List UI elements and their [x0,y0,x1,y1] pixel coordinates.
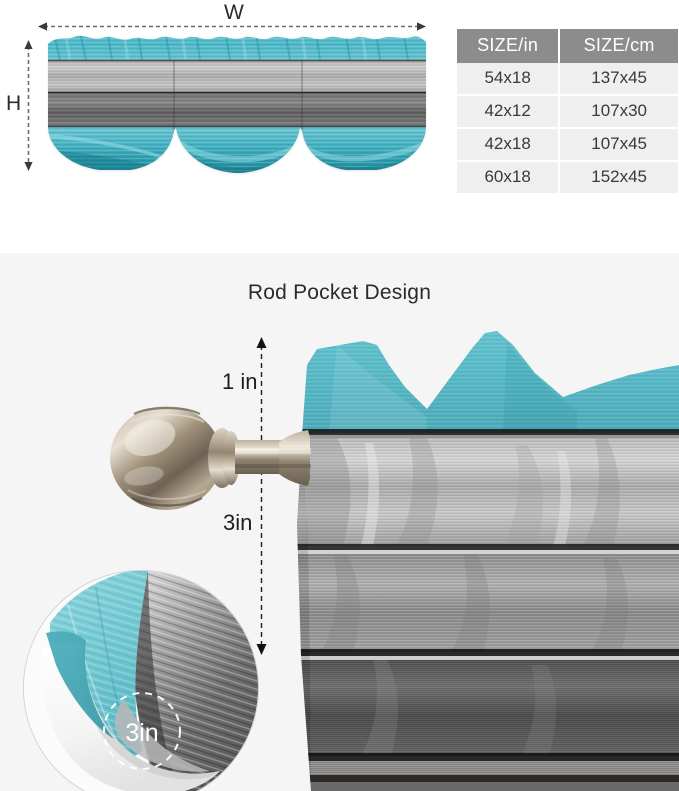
table-row: 42x18 107x45 [457,128,678,161]
cell-size-in: 60x18 [457,161,559,193]
cell-size-in: 42x18 [457,128,559,161]
cell-size-in: 42x12 [457,95,559,128]
cell-size-cm: 107x30 [559,95,678,128]
measure-label-1in: 1 in [222,371,257,393]
fabric-closeup-illustration [277,325,679,791]
width-dimension-label: W [224,2,244,23]
column-header-size-cm: SIZE/cm [559,29,678,63]
cell-size-cm: 152x45 [559,161,678,193]
table-header-row: SIZE/in SIZE/cm [457,29,678,63]
table-row: 54x18 137x45 [457,63,678,95]
height-dimension-label: H [6,93,21,114]
table-row: 60x18 152x45 [457,161,678,193]
cell-size-in: 54x18 [457,63,559,95]
top-panel: W H [0,0,679,253]
curtain-rod-finial [104,398,316,520]
rod-pocket-title: Rod Pocket Design [0,281,679,305]
valance-illustration [46,30,428,175]
rod-pocket-inset-illustration: 3in [24,571,258,791]
column-header-size-in: SIZE/in [457,29,559,63]
table-row: 42x12 107x30 [457,95,678,128]
rod-pocket-inset-circle: 3in [23,570,259,791]
cell-size-cm: 137x45 [559,63,678,95]
cell-size-cm: 107x45 [559,128,678,161]
height-dimension-arrow [23,40,34,171]
size-chart-table: SIZE/in SIZE/cm 54x18 137x45 42x12 107x3… [457,29,678,193]
inset-measure-label: 3in [125,719,158,747]
rod-pocket-panel: Rod Pocket Design [0,253,679,791]
